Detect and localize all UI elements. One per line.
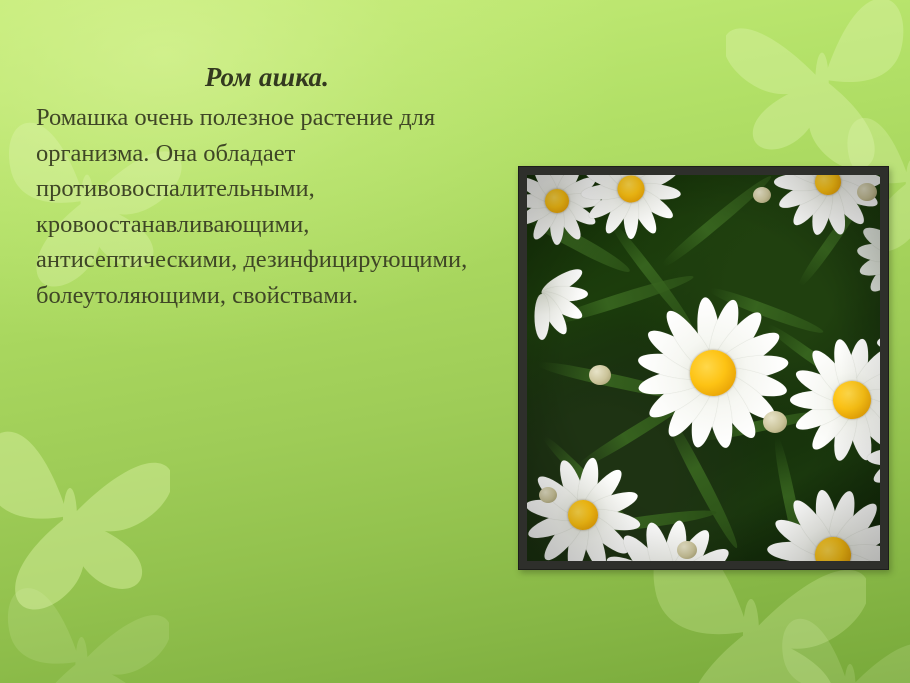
daisy-flower [857, 395, 880, 515]
flower-bud [539, 487, 557, 503]
body-text: Ромашка очень полезное растение для орга… [36, 100, 498, 313]
flower-bud [753, 187, 771, 203]
butterfly-icon-top-right [726, 0, 910, 171]
flower-bud [857, 183, 877, 201]
photo-frame [518, 166, 889, 570]
butterfly-icon-bottom-center [770, 608, 910, 683]
daisy-flower [867, 281, 880, 401]
page-title: Ром ашка. [36, 60, 498, 94]
flower-bud [589, 365, 611, 385]
butterfly-icon-left-bottom [0, 578, 169, 683]
flower-bud [763, 411, 787, 433]
daisy-photo [527, 175, 880, 561]
text-block: Ром ашка. Ромашка очень полезное растени… [36, 60, 498, 313]
slide: Ром ашка. Ромашка очень полезное растени… [0, 0, 910, 683]
daisy-flower [527, 239, 597, 349]
flower-bud [677, 541, 697, 559]
butterfly-icon-left-lower [0, 420, 170, 610]
